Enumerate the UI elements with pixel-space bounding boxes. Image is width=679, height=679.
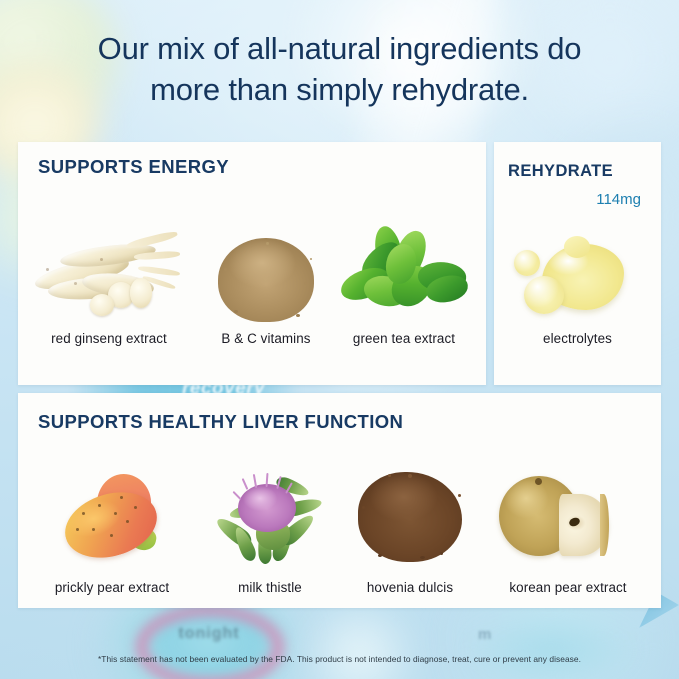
ingredient-label-korean-pear-extract: korean pear extract xyxy=(478,580,658,595)
card-title-rehydrate: REHYDRATE xyxy=(508,162,613,181)
ingredient-label-red-ginseng-extract: red ginseng extract xyxy=(14,331,204,346)
hovenia-powder-image xyxy=(358,472,462,562)
fda-disclaimer: *This statement has not been evaluated b… xyxy=(0,654,679,664)
ingredient-label-milk-thistle: milk thistle xyxy=(212,580,328,595)
ingredient-label-prickly-pear-extract: prickly pear extract xyxy=(26,580,198,595)
ginseng-root-image xyxy=(30,228,182,323)
green-tea-leaves-image xyxy=(334,224,474,324)
headline-line-2: more than simply rehydrate. xyxy=(0,69,679,110)
ingredient-label-green-tea-extract: green tea extract xyxy=(322,331,486,346)
card-title-supports-energy: SUPPORTS ENERGY xyxy=(38,156,229,178)
ingredient-label-electrolytes: electrolytes xyxy=(494,331,661,346)
bg-product-can-right-text: m xyxy=(478,626,648,643)
ingredient-label-hovenia-dulcis: hovenia dulcis xyxy=(344,580,476,595)
bg-product-can-right xyxy=(470,612,650,679)
ingredient-label-b-and-c-vitamins: B & C vitamins xyxy=(198,331,334,346)
card-title-supports-healthy-liver-function: SUPPORTS HEALTHY LIVER FUNCTION xyxy=(38,411,403,433)
page-headline: Our mix of all-natural ingredients do mo… xyxy=(0,28,679,110)
prickly-pear-image xyxy=(62,472,160,558)
vitamin-powder-image xyxy=(218,238,314,322)
rehydrate-amount: 114mg xyxy=(494,191,641,208)
electrolyte-droplets-image xyxy=(514,238,636,322)
headline-line-1: Our mix of all-natural ingredients do xyxy=(98,31,582,66)
korean-pear-image xyxy=(497,470,613,562)
bg-product-can-text: tonight xyxy=(133,625,285,643)
milk-thistle-flower-image xyxy=(224,468,316,560)
